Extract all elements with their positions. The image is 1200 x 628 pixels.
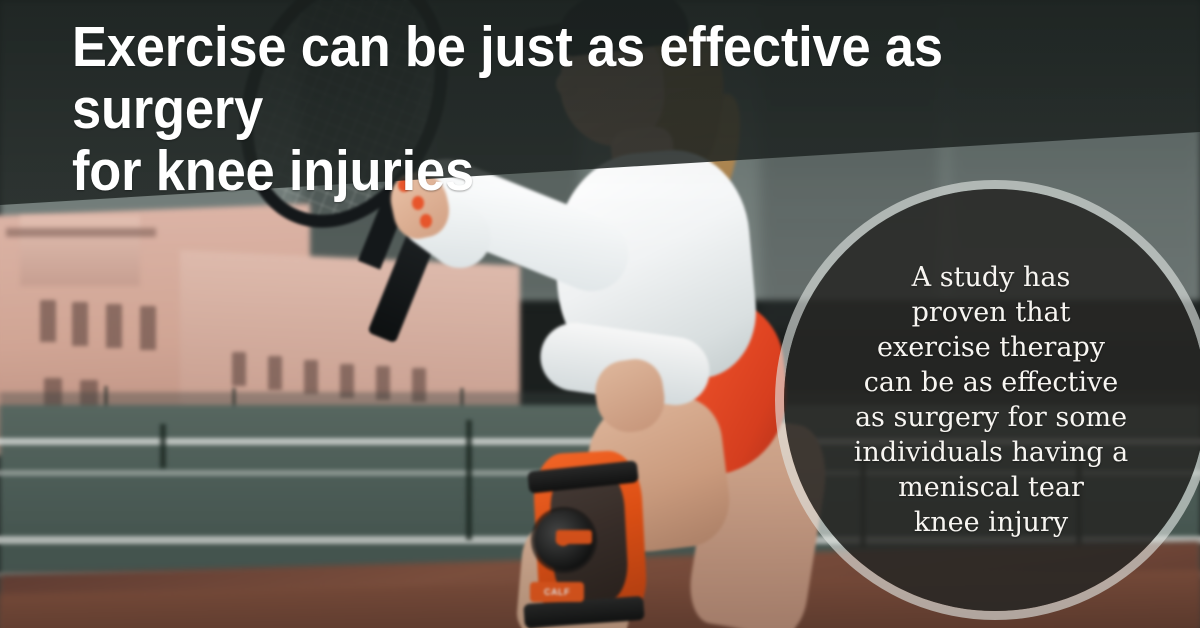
callout-line: exercise therapy — [791, 330, 1191, 365]
callout-circle: A study has proven that exercise therapy… — [784, 189, 1200, 611]
page-title: Exercise can be just as effective as sur… — [72, 16, 1075, 202]
knee-brace-calf-tab: CALF — [530, 582, 584, 602]
knee-brace-buckle — [556, 530, 592, 544]
callout-line: A study has — [791, 260, 1191, 295]
promo-banner: CALF Exercise can be just as effective a… — [0, 0, 1200, 628]
callout-line: individuals having a — [791, 435, 1191, 470]
callout-line: proven that — [791, 295, 1191, 330]
headline-line-2: for knee injuries — [72, 140, 1075, 202]
callout-line: as surgery for some — [791, 400, 1191, 435]
headline-line-1: Exercise can be just as effective as sur… — [72, 16, 1075, 140]
callout-line: can be as effective — [791, 365, 1191, 400]
fingernail — [420, 214, 432, 228]
callout-line: knee injury — [791, 505, 1191, 540]
knee-brace-calf-label: CALF — [544, 587, 570, 597]
callout-line: meniscal tear — [791, 470, 1191, 505]
callout-text: A study has proven that exercise therapy… — [791, 260, 1191, 540]
